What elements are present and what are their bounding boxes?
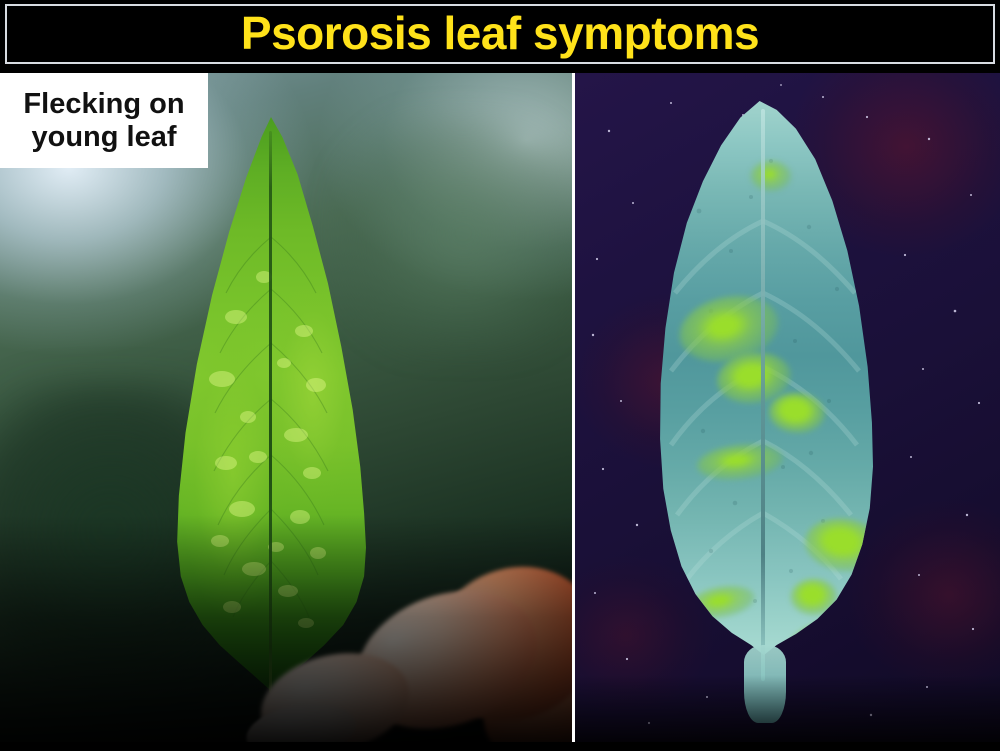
caption-line: young leaf	[31, 121, 176, 153]
page-title: Psorosis leaf symptoms	[0, 4, 1000, 62]
ringspot-lesion	[695, 441, 784, 484]
background-blur-patch	[332, 113, 572, 354]
photo-panels: Flecking on young leaf	[0, 73, 1000, 742]
ringspot-lesion	[768, 391, 827, 435]
photo-mature-leaf: Ringspots on mature leaf	[575, 73, 1000, 742]
bottom-black-strip	[0, 742, 1000, 751]
mature-leaf-vignette	[575, 675, 1000, 742]
caption-line: Flecking on	[23, 88, 184, 120]
mature-leaf-midrib	[761, 109, 765, 681]
young-leaf-vignette	[0, 515, 572, 742]
slide-root: Psorosis leaf symptoms	[0, 0, 1000, 751]
caption-flecking-on-young-leaf: Flecking on young leaf	[0, 73, 208, 168]
title-bar: Psorosis leaf symptoms	[0, 0, 1000, 73]
ringspot-lesion	[751, 161, 791, 191]
photo-young-leaf: Flecking on young leaf	[0, 73, 572, 742]
